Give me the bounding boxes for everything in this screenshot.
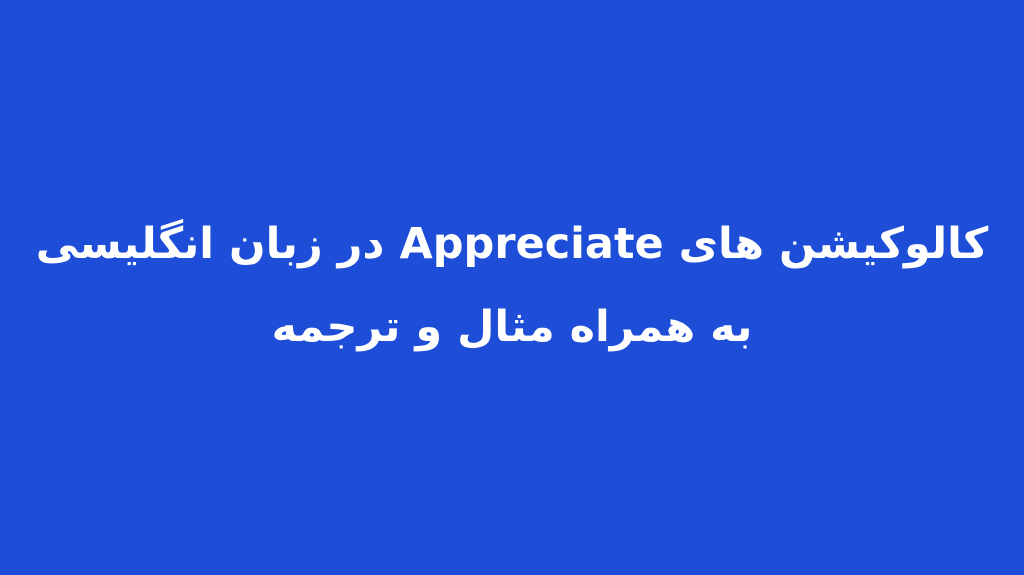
page-title: کالوکیشن های Appreciate در زبان انگلیسی …	[32, 203, 992, 369]
title-line-2: به همراه مثال و ترجمه	[32, 286, 992, 369]
title-line-1: کالوکیشن های Appreciate در زبان انگلیسی	[32, 203, 992, 286]
banner-slide: کالوکیشن های Appreciate در زبان انگلیسی …	[0, 0, 1024, 575]
